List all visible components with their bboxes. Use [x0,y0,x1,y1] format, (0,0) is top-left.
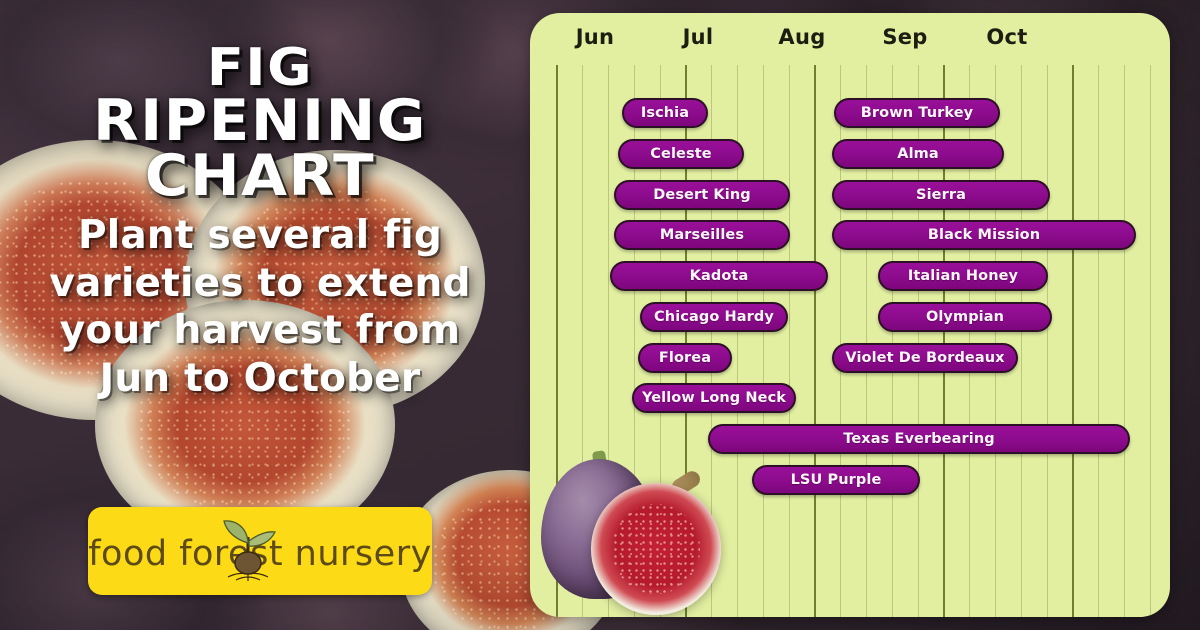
variety-bar[interactable]: Texas Everbearing [708,424,1130,454]
variety-bar[interactable]: Alma [832,139,1004,169]
variety-bar[interactable]: Celeste [618,139,744,169]
variety-bar[interactable]: Black Mission [832,220,1136,250]
variety-bar[interactable]: Kadota [610,261,828,291]
month-label-jun: Jun [576,25,615,49]
title-line-1: FIG [0,44,530,94]
variety-bar[interactable]: Florea [638,343,732,373]
variety-bar-label: Black Mission [928,227,1040,243]
variety-bar[interactable]: Violet De Bordeaux [832,343,1018,373]
variety-bars: IschiaCelesteDesert KingMarseillesKadota… [530,65,1170,617]
variety-bar-label: Celeste [650,146,711,162]
variety-bar-label: Alma [897,146,939,162]
variety-bar[interactable]: Brown Turkey [834,98,1000,128]
variety-bar-label: Chicago Hardy [654,309,774,325]
variety-bar[interactable]: Sierra [832,180,1050,210]
variety-bar[interactable]: LSU Purple [752,465,920,495]
ripening-chart-panel: JunJulAugSepOct IschiaCelesteDesert King… [530,13,1170,617]
page-title: FIG RIPENING CHART [0,44,530,203]
variety-bar[interactable]: Desert King [614,180,790,210]
variety-bar[interactable]: Chicago Hardy [640,302,788,332]
variety-bar-label: Brown Turkey [861,105,973,121]
title-line-2: RIPENING CHART [0,94,530,203]
headline-column: FIG RIPENING CHART Plant several fig var… [0,0,520,630]
variety-bar[interactable]: Olympian [878,302,1052,332]
variety-bar-label: Desert King [653,187,750,203]
variety-bar-label: Ischia [641,105,689,121]
variety-bar-label: Italian Honey [908,268,1018,284]
variety-bar[interactable]: Yellow Long Neck [632,383,796,413]
month-axis: JunJulAugSepOct [530,13,1170,65]
variety-bar-label: Olympian [926,309,1004,325]
variety-bar-label: Yellow Long Neck [642,390,786,406]
variety-bar-label: Florea [659,350,711,366]
variety-bar-label: Violet De Bordeaux [845,350,1004,366]
month-label-aug: Aug [778,25,825,49]
month-label-jul: Jul [683,25,714,49]
month-label-oct: Oct [986,25,1027,49]
brand-logo-inner: food forest nursery [88,507,432,595]
variety-bar-label: Texas Everbearing [843,431,994,447]
variety-bar-label: Sierra [916,187,966,203]
variety-bar-label: Marseilles [660,227,744,243]
variety-bar[interactable]: Marseilles [614,220,790,250]
variety-bar[interactable]: Italian Honey [878,261,1048,291]
variety-bar-label: Kadota [690,268,749,284]
month-label-sep: Sep [882,25,927,49]
seedling-sprout-icon [218,517,280,585]
poster-canvas: FIG RIPENING CHART Plant several fig var… [0,0,1200,630]
variety-bar-label: LSU Purple [791,472,882,488]
subtitle-text: Plant several fig varieties to extend yo… [30,212,490,402]
brand-logo[interactable]: food forest nursery [88,507,432,595]
variety-bar[interactable]: Ischia [622,98,708,128]
